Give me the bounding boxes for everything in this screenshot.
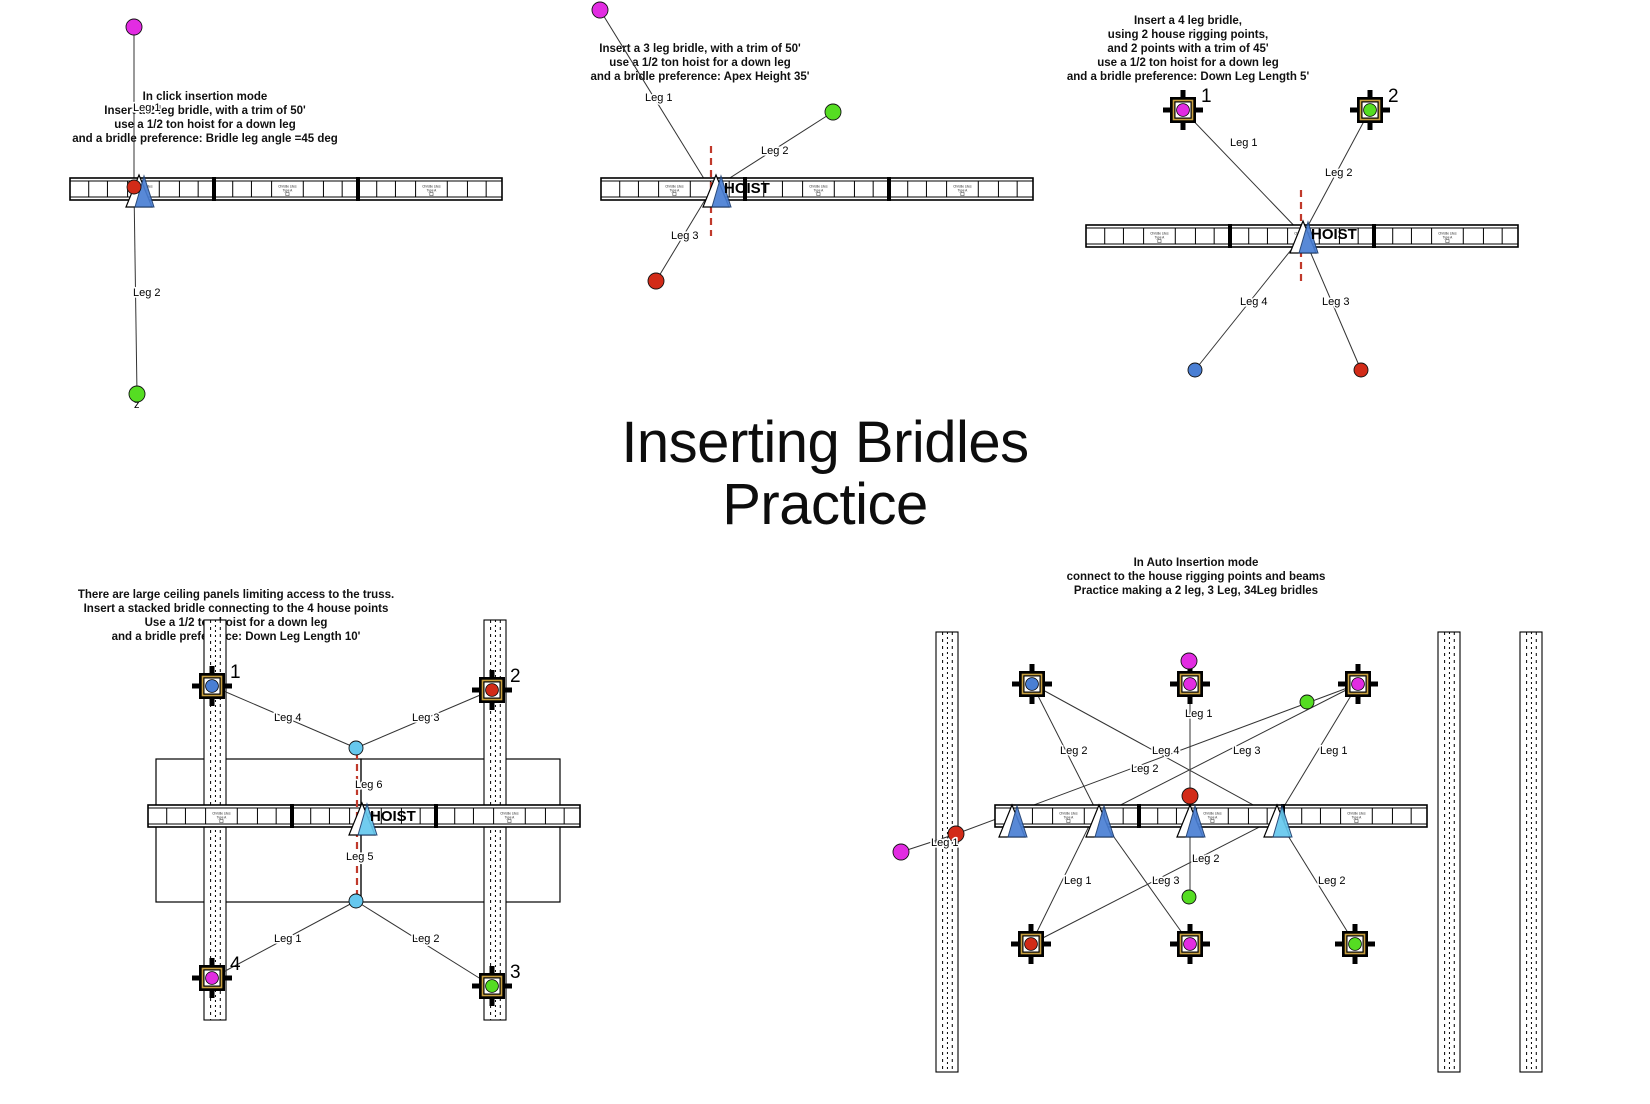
leg-label: Leg 1	[645, 92, 673, 104]
node-red-bottom[interactable]	[648, 273, 664, 289]
rig-point-dot	[1025, 938, 1038, 951]
rig-point-dot	[1177, 104, 1190, 117]
leg-label: Leg 2	[1192, 853, 1220, 865]
node-green-right[interactable]	[1300, 695, 1314, 709]
bridle-leg-line	[1183, 110, 1303, 235]
leg-label: Leg 1	[1230, 137, 1258, 149]
node-z-label: z	[134, 399, 140, 411]
leg-label: Leg 2	[1060, 745, 1088, 757]
leg-label: Leg 1	[1320, 745, 1348, 757]
node-red-center[interactable]	[1182, 788, 1198, 804]
truss-label-line2: Type A	[427, 189, 438, 193]
stacked-bridle-group: Christie LitesType AChristie LitesType A…	[148, 620, 580, 1020]
leg-label: Leg 4	[274, 712, 302, 724]
rig-point-number: 1	[1201, 86, 1212, 107]
rig-point-dot	[206, 680, 219, 693]
truss-label-line2: Type A	[958, 189, 969, 193]
rig-point-dot	[1352, 678, 1365, 691]
leg-label: Leg 2	[1131, 763, 1159, 775]
house-point-top-right[interactable]	[1338, 664, 1378, 704]
truss-label-line2: Type A	[1443, 236, 1454, 240]
node-lower-apex[interactable]	[349, 894, 363, 908]
leg-label: Leg 2	[412, 933, 440, 945]
truss-joint	[1137, 804, 1141, 828]
leg-label: Leg 3	[412, 712, 440, 724]
house-point-top-left[interactable]	[1012, 664, 1052, 704]
node-green-bottom[interactable]	[1182, 890, 1196, 904]
rig-point-number: 2	[1388, 86, 1399, 107]
rigging-diagram-svg: Christie LitesType AChristie LitesType A…	[0, 0, 1650, 1104]
ceiling-panel	[361, 759, 560, 902]
truss-label-line2: Type A	[1064, 816, 1075, 820]
ceiling-panel	[156, 759, 361, 902]
leg-label: Leg 3	[1152, 875, 1180, 887]
leg-label: Leg 1	[1185, 708, 1213, 720]
node-red-bottomright[interactable]	[1354, 363, 1368, 377]
truss-label-line2: Type A	[1208, 816, 1219, 820]
node-magenta-top[interactable]	[1181, 653, 1197, 669]
hoist-label: HOIST	[1311, 226, 1357, 243]
rig-point-dot	[486, 980, 499, 993]
leg-label: Leg 6	[355, 779, 383, 791]
two-leg-bridle-group: Christie LitesType AChristie LitesType A…	[70, 19, 502, 402]
diagram-canvas: In click insertion modeInsert a 2 leg br…	[0, 0, 1650, 1104]
rig-point-number: 3	[510, 962, 521, 983]
truss-joint	[212, 177, 216, 201]
leg-label: Leg 1	[274, 933, 302, 945]
auto-insertion-group: Christie LitesType AChristie LitesType A…	[893, 632, 1542, 1072]
structural-beam	[936, 632, 958, 1072]
rig-point-number: 4	[230, 954, 241, 975]
house-point-1[interactable]: 1	[1163, 86, 1212, 130]
truss-joint	[887, 177, 891, 201]
house-point-bottom-right[interactable]	[1335, 924, 1375, 964]
hoist-label: HOIST	[370, 808, 416, 825]
truss-joint	[434, 804, 438, 828]
leg-label: Leg 3	[1322, 296, 1350, 308]
leg-label: Leg 1	[1064, 875, 1092, 887]
truss-joint	[1372, 224, 1376, 248]
truss-label-line2: Type A	[217, 816, 228, 820]
rig-point-dot	[1026, 678, 1039, 691]
house-point-bottom-left[interactable]	[1011, 924, 1051, 964]
three-leg-bridle-group: Christie LitesType AChristie LitesType A…	[592, 2, 1033, 289]
rig-point-dot	[1349, 938, 1362, 951]
rig-point-dot	[206, 972, 219, 985]
house-point-bottom-center[interactable]	[1170, 924, 1210, 964]
leg-label: Leg 4	[1240, 296, 1268, 308]
truss-label-line2: Type A	[670, 189, 681, 193]
leg-label: Leg 2	[1325, 167, 1353, 179]
truss-label-line2: Type A	[1155, 236, 1166, 240]
structural-beam	[1520, 632, 1542, 1072]
node-green-right[interactable]	[825, 104, 841, 120]
leg-label: Leg 1	[931, 837, 959, 849]
leg-label: Leg 3	[671, 230, 699, 242]
truss: Christie LitesType AChristie LitesType A…	[601, 177, 1033, 201]
rig-point-dot	[1364, 104, 1377, 117]
node-upper-apex[interactable]	[349, 741, 363, 755]
leg-label: Leg 4	[1152, 745, 1180, 757]
node-magenta-left[interactable]	[893, 844, 909, 860]
rig-point-dot	[486, 684, 499, 697]
leg-label: Leg 2	[1318, 875, 1346, 887]
truss-label-line2: Type A	[814, 189, 825, 193]
leg-label: Leg 5	[346, 851, 374, 863]
leg-label: Leg 2	[133, 287, 161, 299]
truss: Christie LitesType AChristie LitesType A…	[995, 804, 1427, 828]
node-magenta-top[interactable]	[126, 19, 142, 35]
leg-label: Leg 1	[133, 102, 161, 114]
node-magenta-top[interactable]	[592, 2, 608, 18]
hoist-label: HOIST	[724, 180, 770, 197]
rig-point-dot	[1184, 678, 1197, 691]
truss-joint	[290, 804, 294, 828]
leg-label: Leg 3	[1233, 745, 1261, 757]
truss-label-line2: Type A	[505, 816, 516, 820]
leg-label: Leg 2	[761, 145, 789, 157]
node-red-apex[interactable]	[127, 180, 141, 194]
truss-joint	[1228, 224, 1232, 248]
node-blue-bottomleft[interactable]	[1188, 363, 1202, 377]
truss-label-line2: Type A	[283, 189, 294, 193]
truss-label-line2: Type A	[1352, 816, 1363, 820]
four-leg-bridle-group: Christie LitesType AChristie LitesType A…	[1086, 86, 1518, 377]
house-point-2[interactable]: 2	[1350, 86, 1399, 130]
house-point-top-center[interactable]	[1170, 664, 1210, 704]
truss-joint	[356, 177, 360, 201]
structural-beam	[1438, 632, 1460, 1072]
rig-point-number: 2	[510, 666, 521, 687]
rig-point-dot	[1184, 938, 1197, 951]
rig-point-number: 1	[230, 662, 241, 683]
